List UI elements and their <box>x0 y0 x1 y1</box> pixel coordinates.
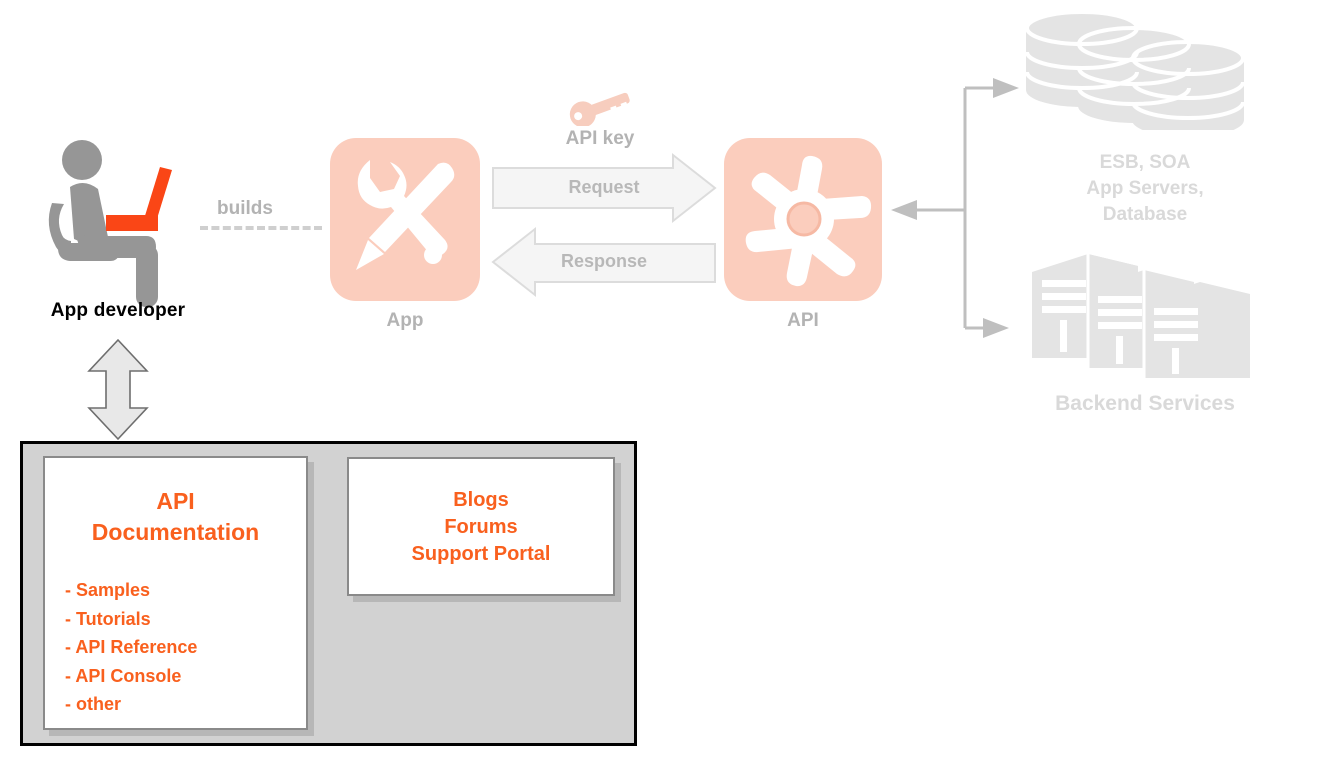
database-cylinders-icon <box>1020 10 1270 130</box>
community-line-3[interactable]: Support Portal <box>349 541 613 568</box>
api-label: API <box>724 310 882 332</box>
builds-dashed-connector <box>200 226 322 230</box>
api-key-label: API key <box>520 128 680 150</box>
response-arrow: Response <box>490 224 718 300</box>
backend-services-label: Backend Services <box>1000 392 1290 416</box>
community-text: Blogs Forums Support Portal <box>349 487 613 568</box>
list-item[interactable]: - other <box>65 690 295 719</box>
community-line-1[interactable]: Blogs <box>349 487 613 514</box>
app-tile[interactable] <box>330 138 480 301</box>
api-star-hub-icon <box>724 138 882 301</box>
key-icon <box>565 86 635 126</box>
esb-line-3: Database <box>1010 202 1280 228</box>
app-label: App <box>330 310 480 332</box>
api-tile[interactable] <box>724 138 882 301</box>
api-doc-title-line-1: API <box>45 486 306 517</box>
list-item[interactable]: - Samples <box>65 576 295 605</box>
builds-label: builds <box>185 198 305 220</box>
developer-label: App developer <box>0 300 236 322</box>
api-documentation-title: API Documentation <box>45 486 306 548</box>
developer-docs-double-arrow <box>85 337 151 442</box>
list-item[interactable]: - Tutorials <box>65 605 295 634</box>
response-label: Response <box>490 251 718 272</box>
list-item[interactable]: - API Reference <box>65 633 295 662</box>
api-documentation-list: - Samples - Tutorials - API Reference - … <box>65 576 295 719</box>
esb-line-2: App Servers, <box>1010 176 1280 202</box>
server-racks-icon <box>1028 250 1258 385</box>
community-card[interactable]: Blogs Forums Support Portal <box>347 457 615 596</box>
api-doc-title-line-2: Documentation <box>45 517 306 548</box>
diagram-canvas: App developer builds App API key <box>0 0 1338 770</box>
seated-developer-icon <box>40 135 200 315</box>
esb-soa-label: ESB, SOA App Servers, Database <box>1010 150 1280 228</box>
esb-line-1: ESB, SOA <box>1010 150 1280 176</box>
wrench-and-pencil-icon <box>330 138 480 301</box>
request-label: Request <box>490 177 718 198</box>
community-line-2[interactable]: Forums <box>349 514 613 541</box>
request-arrow: Request <box>490 152 718 224</box>
list-item[interactable]: - API Console <box>65 662 295 691</box>
developer-portal-panel: API Documentation - Samples - Tutorials … <box>20 441 637 746</box>
api-documentation-card[interactable]: API Documentation - Samples - Tutorials … <box>43 456 308 730</box>
